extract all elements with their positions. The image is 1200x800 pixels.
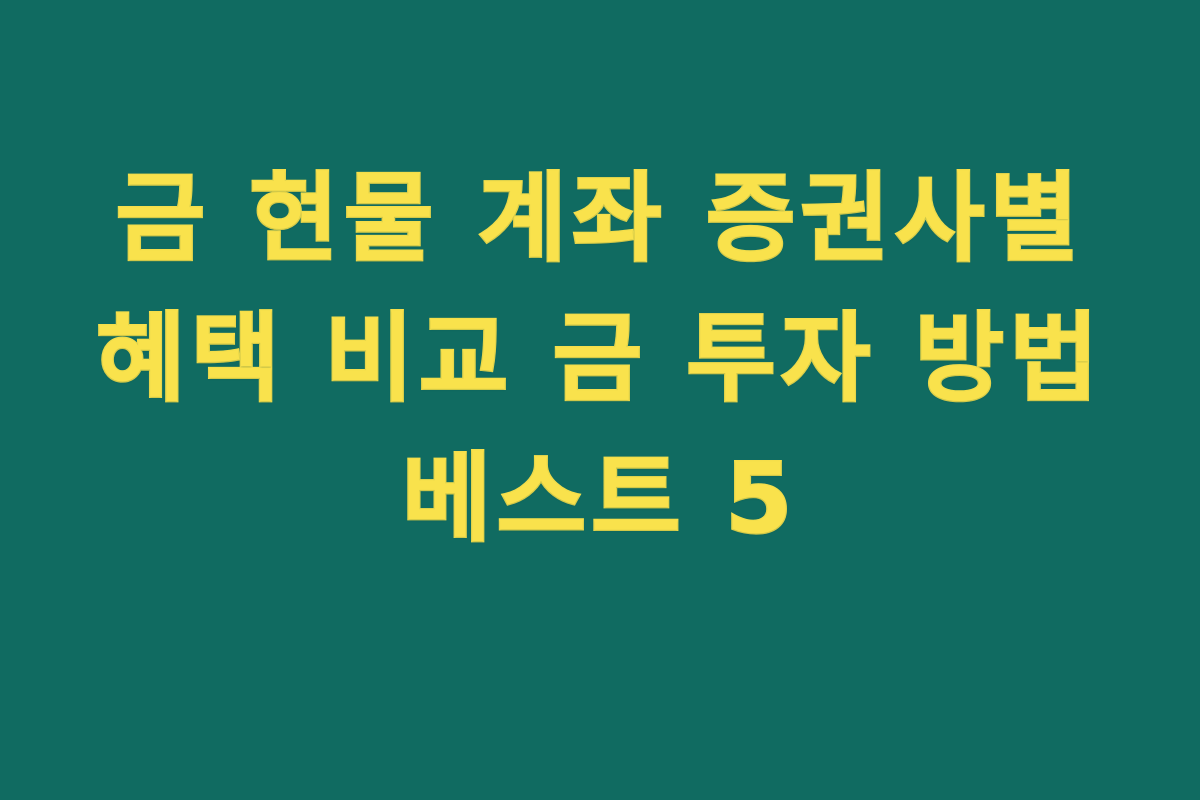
- title-line-2: 혜택 비교 금 투자 방법: [0, 289, 1200, 429]
- thumbnail-card: 금 현물 계좌 증권사별 혜택 비교 금 투자 방법 베스트 5: [0, 0, 1200, 800]
- title-line-1: 금 현물 계좌 증권사별: [0, 149, 1200, 289]
- title-line-3: 베스트 5: [0, 429, 1200, 569]
- title-block: 금 현물 계좌 증권사별 혜택 비교 금 투자 방법 베스트 5: [0, 149, 1200, 569]
